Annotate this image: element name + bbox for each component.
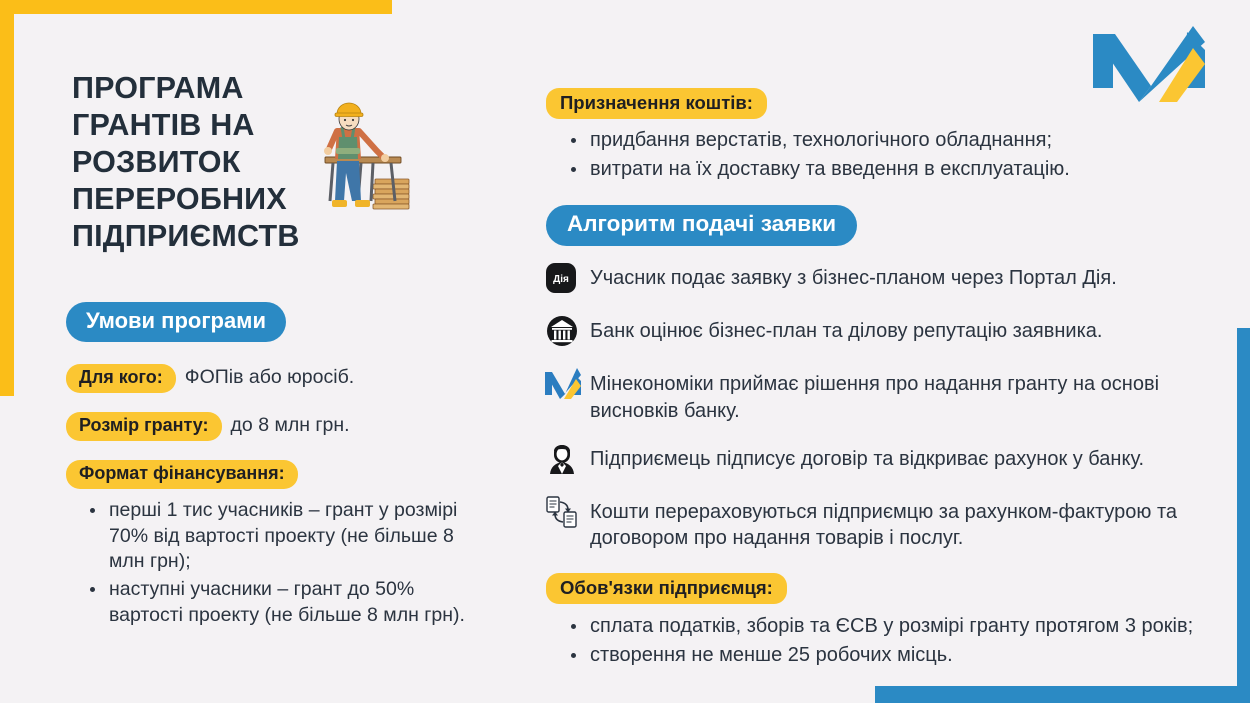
svg-text:Дія: Дія [553,274,569,285]
document-transfer-icon [543,493,581,531]
condition-row-grant-size: Розмір гранту: до 8 млн грн. [66,412,350,441]
algorithm-step-text: Мінекономіки приймає рішення про надання… [590,368,1233,425]
condition-label: Для кого: [66,364,176,393]
page-title: ПРОГРАМА ГРАНТІВ НА РОЗВИТОК ПЕРЕРОБНИХ … [72,70,340,254]
list-item: створення не менше 25 робочих місць. [566,641,1246,670]
carpenter-worker-illustration [311,101,411,214]
condition-label: Формат фінансування: [66,460,298,489]
duties-section-title: Обов'язки підприємця: [546,573,787,604]
diia-app-icon: Дія [543,259,581,297]
algorithm-step: Мінекономіки приймає рішення про надання… [543,368,1233,425]
duties-list: сплата податків, зборів та ЄСВ у розмірі… [566,612,1246,670]
minekonomiky-logo [1093,26,1205,106]
algorithm-step-text: Учасник подає заявку з бізнес-планом чер… [590,262,1117,292]
financing-format-list: перші 1 тис учасників – грант у розмірі … [86,498,486,631]
list-item: перші 1 тис учасників – грант у розмірі … [86,498,486,575]
algorithm-step-text: Підприємець підписує договір та відкрива… [590,443,1144,473]
algorithm-step-text: Кошти перераховуються підприємцю за раху… [590,496,1233,553]
algorithm-step-text: Банк оцінює бізнес-план та ділову репута… [590,315,1102,345]
condition-value: до 8 млн грн. [231,414,350,437]
condition-row-for-whom: Для кого: ФОПів або юросіб. [66,364,354,393]
minekonomiky-m-icon [543,365,581,403]
algorithm-step: Підприємець підписує договір та відкрива… [543,443,1233,478]
list-item: придбання верстатів, технологічного обла… [566,126,1236,155]
list-item: витрати на їх доставку та введення в екс… [566,155,1236,184]
list-item: сплата податків, зборів та ЄСВ у розмірі… [566,612,1246,641]
conditions-section-title: Умови програми [66,302,286,342]
infographic-slide: ПРОГРАМА ГРАНТІВ НА РОЗВИТОК ПЕРЕРОБНИХ … [0,0,1250,703]
purpose-list: придбання верстатів, технологічного обла… [566,126,1236,184]
decorative-bottom-blue-bar [875,686,1250,703]
decorative-top-yellow-bar [0,0,392,14]
condition-row-financing-format: Формат фінансування: [66,460,298,489]
purpose-section-title: Призначення коштів: [546,88,767,119]
businessman-person-icon [543,440,581,478]
algorithm-step: Банк оцінює бізнес-план та ділову репута… [543,315,1233,350]
bank-building-icon [543,312,581,350]
condition-value: ФОПів або юросіб. [185,366,354,389]
algorithm-step: Дія Учасник подає заявку з бізнес-планом… [543,262,1233,297]
algorithm-steps-list: Дія Учасник подає заявку з бізнес-планом… [543,262,1233,570]
left-column: ПРОГРАМА ГРАНТІВ НА РОЗВИТОК ПЕРЕРОБНИХ … [72,70,492,254]
condition-label: Розмір гранту: [66,412,222,441]
decorative-left-yellow-bar [0,0,14,396]
list-item: наступні учасники – грант до 50% вартост… [86,577,486,628]
algorithm-section-title: Алгоритм подачі заявки [546,205,857,246]
algorithm-step: Кошти перераховуються підприємцю за раху… [543,496,1233,553]
